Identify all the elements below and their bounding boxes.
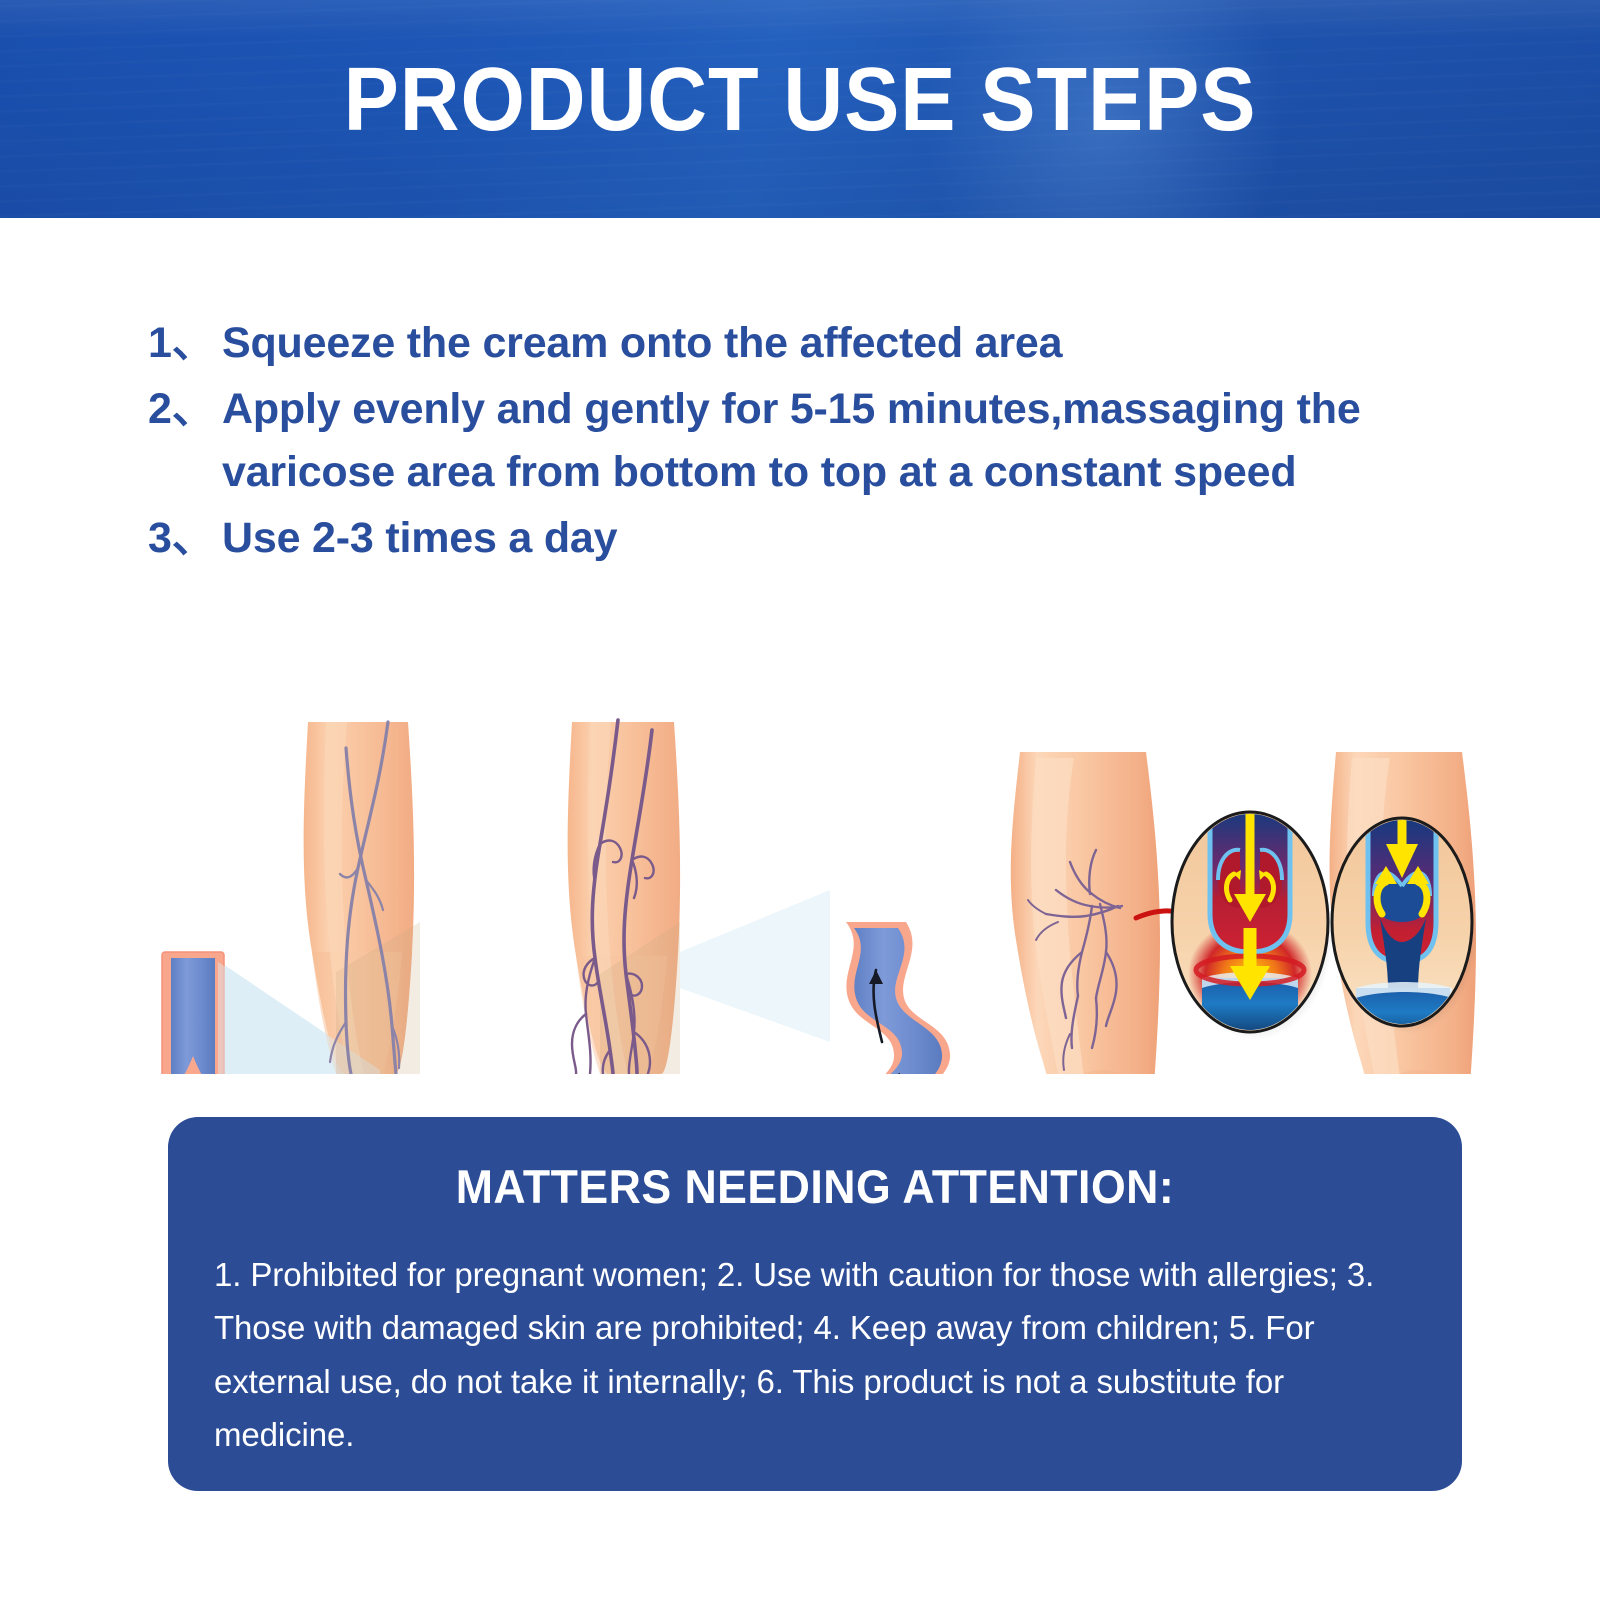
product-use-steps-page: PRODUCT USE STEPS 1、 Squeeze the cream o… xyxy=(0,0,1600,1600)
tortuous-vein-cross-section xyxy=(844,922,950,1074)
failing-valve-oval xyxy=(1172,808,1334,1040)
step-text: Squeeze the cream onto the affected area xyxy=(222,312,1488,374)
step-text: Apply evenly and gently for 5-15 minutes… xyxy=(222,378,1488,503)
page-title: PRODUCT USE STEPS xyxy=(64,52,1536,149)
list-item: 3、 Use 2-3 times a day xyxy=(148,507,1488,569)
affected-leg-with-inset xyxy=(1011,752,1190,1074)
list-item: 1、 Squeeze the cream onto the affected a… xyxy=(148,312,1488,374)
varicose-leg xyxy=(568,720,830,1074)
list-item: 2、 Apply evenly and gently for 5-15 minu… xyxy=(148,378,1488,503)
step-text: Use 2-3 times a day xyxy=(222,507,1488,569)
step-number: 3、 xyxy=(148,507,222,569)
step-number: 2、 xyxy=(148,378,222,440)
step-number: 1、 xyxy=(148,312,222,374)
vein-illustration-strip xyxy=(140,622,1485,1074)
usage-steps-list: 1、 Squeeze the cream onto the affected a… xyxy=(148,312,1488,573)
attention-body: 1. Prohibited for pregnant women; 2. Use… xyxy=(214,1248,1416,1462)
header-banner: PRODUCT USE STEPS xyxy=(0,0,1600,218)
attention-title: MATTERS NEEDING ATTENTION: xyxy=(244,1159,1386,1214)
attention-panel: MATTERS NEEDING ATTENTION: 1. Prohibited… xyxy=(168,1117,1462,1491)
